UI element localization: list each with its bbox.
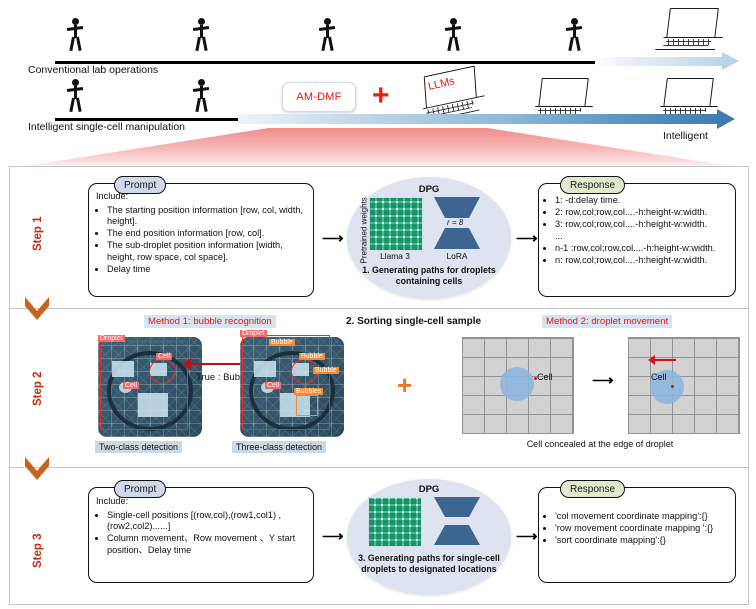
person-icon [192, 79, 210, 113]
prompt-item: Column movement、Row movement 、Y start po… [107, 533, 304, 556]
dpg-title: DPG [347, 184, 511, 195]
arrow-right-icon: ⟶ [322, 231, 344, 246]
dpg-title: DPG [347, 484, 511, 495]
workflow-panel: Step 1 Prompt Include: The starting posi… [9, 166, 749, 605]
two-class-caption: Two-class detection [95, 441, 182, 453]
weights-grid-icon [368, 497, 422, 547]
person-icon [318, 18, 336, 52]
step3-response-tag: Response [560, 480, 625, 498]
chevron-down-icon [24, 295, 50, 321]
movement-caption: Cell concealed at the edge of droplet [462, 439, 738, 449]
response-item: 3: row,col;row,col....-h:height-w:width. [555, 219, 730, 231]
divider [10, 467, 748, 468]
cell-dot-icon [671, 385, 674, 388]
prompt-intro: Include: [96, 496, 304, 508]
person-icon [444, 18, 462, 52]
cell-highlight-circle [149, 359, 176, 384]
step3-response-content: 'col movement coordinate mapping':{} 'ro… [544, 511, 730, 547]
step1-response-content: 1: -d:delay time. 2: row,col;row,col....… [544, 195, 730, 268]
step1-response-tag: Response [560, 176, 625, 194]
bubbles-bbox [296, 395, 318, 416]
step-1-label: Step 1 [32, 205, 44, 251]
detection-bbox [100, 341, 188, 430]
step-2-label: Step 2 [32, 360, 44, 406]
laptop-icon [655, 8, 721, 50]
arrowhead-icon [717, 109, 735, 129]
label-bubble: Bubble [299, 353, 325, 360]
three-class-caption: Three-class detection [232, 441, 326, 453]
prompt-item: The sub-droplet position information [wi… [107, 240, 304, 263]
response-item: 1: -d:delay time. [555, 195, 730, 207]
weights-grid-icon [369, 197, 423, 251]
droplet-grid-after [628, 337, 740, 434]
response-item: 'row movement coordinate mapping ':{} [555, 523, 730, 535]
timeline-row1-label: Conventional lab operations [28, 64, 158, 76]
lora-rank-label: r = 8 [447, 218, 463, 227]
adapter-label: LoRA [427, 251, 487, 261]
step2-title: 2. Sorting single-cell sample [346, 316, 481, 327]
method-2-label: Method 2: droplet movement [542, 315, 672, 328]
model-label: Llama 3 [365, 251, 425, 261]
person-icon [192, 18, 210, 52]
label-bubbles: Bubbles [294, 388, 323, 395]
arrow-right-icon: ⟶ [516, 529, 538, 544]
arrow-right-icon: ⟶ [322, 529, 344, 544]
cell-label-before: Cell [537, 372, 553, 382]
dpg-caption: 3. Generating paths for single-cell drop… [353, 553, 505, 574]
droplet-blob [500, 367, 534, 401]
prompt-item: Delay time [107, 264, 304, 276]
divider [10, 308, 748, 309]
person-icon [565, 18, 583, 52]
prompt-intro: Include: [96, 191, 304, 203]
step1-prompt-content: Include: The starting position informati… [96, 191, 304, 276]
movement-arrow [654, 359, 676, 361]
label-droplet: Droplet [240, 330, 267, 337]
step-3-label: Step 3 [32, 522, 44, 568]
label-cell: Cell [265, 382, 281, 389]
response-item: 2: row,col;row,col....-h:height-w:width. [555, 207, 730, 219]
timeline-arrow-2 [238, 114, 720, 124]
label-droplet: Droplet [98, 335, 125, 342]
label-bubble: Bubble [269, 339, 295, 346]
method-1-label: Method 1: bubble recognition [144, 315, 276, 328]
response-item: 'sort coordinate mapping':{} [555, 535, 730, 547]
label-cell: Cell [156, 353, 172, 360]
arrow-right-icon: ⟶ [592, 373, 614, 388]
plus-icon: + [372, 81, 390, 111]
prompt-item: The end position information [row, col]. [107, 228, 304, 240]
person-icon [66, 79, 84, 113]
arrowhead-icon [722, 52, 739, 70]
arrowhead-icon [648, 355, 655, 365]
timeline-arrow-1 [595, 57, 725, 66]
response-item: ... [555, 231, 730, 243]
label-bubble: Bubble [313, 367, 339, 374]
arrow-right-icon: ⟶ [516, 231, 538, 246]
dpg-caption: 1. Generating paths for droplets contain… [353, 265, 505, 286]
response-item: 'col movement coordinate mapping':{} [555, 511, 730, 523]
step3-prompt-content: Include: Single-cell positions [(row,col… [96, 496, 304, 557]
am-dmf-badge: AM-DMF [282, 82, 356, 112]
response-item: n-1 :row,col;row,col....-h:height-w:widt… [555, 243, 730, 255]
person-icon [66, 18, 84, 52]
label-cell: Cell [123, 382, 139, 389]
plus-icon: + [397, 372, 412, 398]
response-item: n: row,col;row,col....-h:height-w:width. [555, 255, 730, 267]
funnel-connector [0, 128, 756, 170]
prompt-item: Single-cell positions [(row,col),(row1,c… [107, 510, 304, 533]
chevron-down-icon [24, 455, 50, 481]
cell-label-after: Cell [651, 372, 667, 382]
prompt-item: The starting position information [row, … [107, 205, 304, 228]
arrowhead-icon [182, 358, 191, 370]
